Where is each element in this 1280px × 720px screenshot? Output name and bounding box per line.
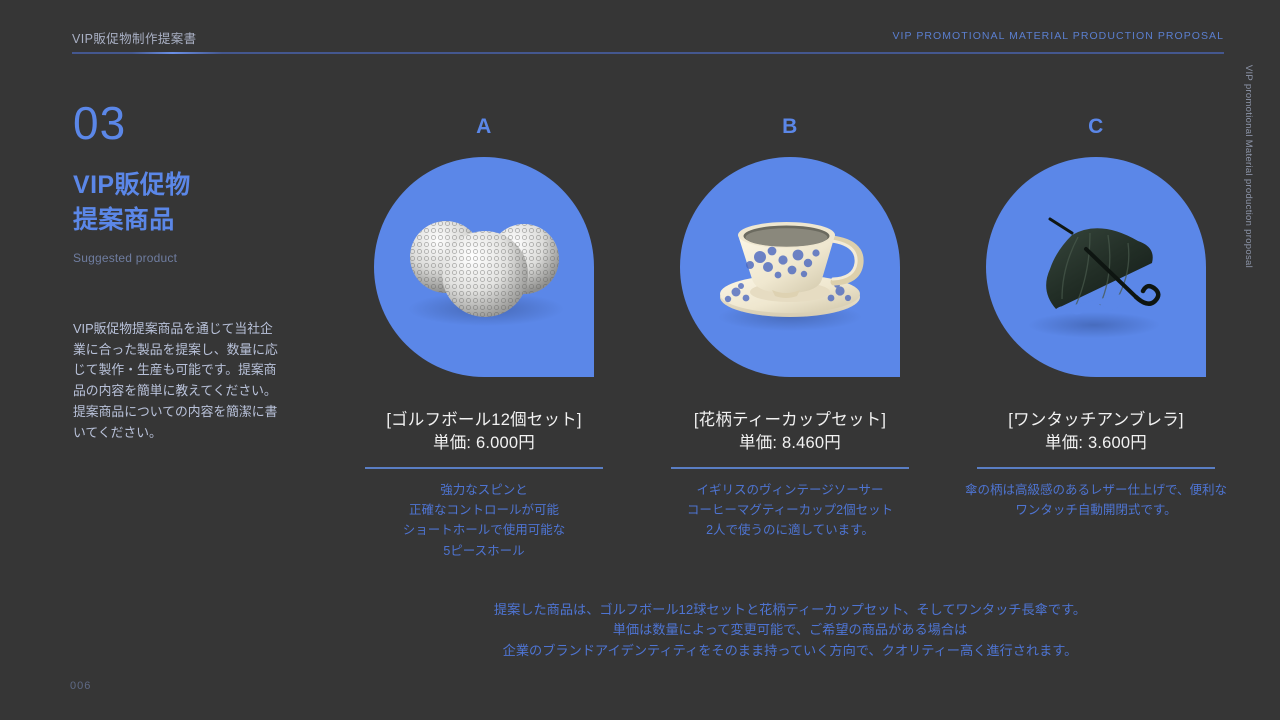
header-title-ja: VIP販促物制作提案書 (72, 28, 197, 47)
section-body-text: VIP販促物提案商品を通じて当社企業に合った製品を提案し、数量に応じて製作・生産… (73, 319, 281, 443)
card-description: 傘の柄は高級感のあるレザー仕上げで、便利なワンタッチ自動開閉式です。 (962, 480, 1230, 521)
card-divider (671, 467, 909, 469)
section-title-line2: 提案商品 (73, 203, 288, 238)
section-title: VIP販促物 提案商品 (73, 168, 288, 237)
card-letter: A (350, 112, 618, 142)
product-card[interactable]: C (962, 112, 1230, 561)
card-title-name: [花柄ティーカップセット] (656, 409, 924, 432)
product-card[interactable]: B (656, 112, 924, 561)
teacup-icon (680, 157, 900, 377)
section-number: 03 (73, 100, 288, 146)
card-title-name: [ゴルフボール12個セット] (350, 409, 618, 432)
card-image-blob (986, 157, 1206, 377)
card-title-name: [ワンタッチアンブレラ] (962, 409, 1230, 432)
card-title-price: 単価: 6.000円 (350, 432, 618, 455)
golf-balls-icon (374, 157, 594, 377)
card-title-price: 単価: 8.460円 (656, 432, 924, 455)
section-title-line1: VIP販促物 (73, 168, 288, 203)
page-number: 006 (70, 680, 91, 692)
card-title-price: 単価: 3.600円 (962, 432, 1230, 455)
section-subtitle: Suggested product (73, 251, 288, 265)
side-vertical-label: VIP promotional Material production prop… (1243, 65, 1254, 268)
card-description: イギリスのヴィンテージソーサーコーヒーマグティーカップ2個セット2人で使うのに適… (656, 480, 924, 541)
product-card-list: A (350, 112, 1230, 561)
summary-text: 提案した商品は、ゴルフボール12球セットと花柄ティーカップセット、そしてワンタッ… (350, 600, 1230, 661)
card-divider (365, 467, 603, 469)
card-description: 強力なスピンと正確なコントロールが可能ショートホールで使用可能な5ピースホール (350, 480, 618, 561)
header-title-en: VIP PROMOTIONAL MATERIAL PRODUCTION PROP… (893, 30, 1225, 42)
card-divider (977, 467, 1215, 469)
card-title: [花柄ティーカップセット] 単価: 8.460円 (656, 409, 924, 456)
card-title: [ワンタッチアンブレラ] 単価: 3.600円 (962, 409, 1230, 456)
card-letter: B (656, 112, 924, 142)
card-letter: C (962, 112, 1230, 142)
card-image-blob (374, 157, 594, 377)
card-title: [ゴルフボール12個セット] 単価: 6.000円 (350, 409, 618, 456)
product-card[interactable]: A (350, 112, 618, 561)
header-divider-highlight (132, 52, 222, 54)
slide-header: VIP販促物制作提案書 VIP PROMOTIONAL MATERIAL PRO… (72, 28, 1224, 58)
header-divider (72, 52, 1224, 54)
card-image-blob (680, 157, 900, 377)
umbrella-icon (986, 157, 1206, 377)
left-column: 03 VIP販促物 提案商品 Suggested product VIP販促物提… (73, 100, 288, 443)
